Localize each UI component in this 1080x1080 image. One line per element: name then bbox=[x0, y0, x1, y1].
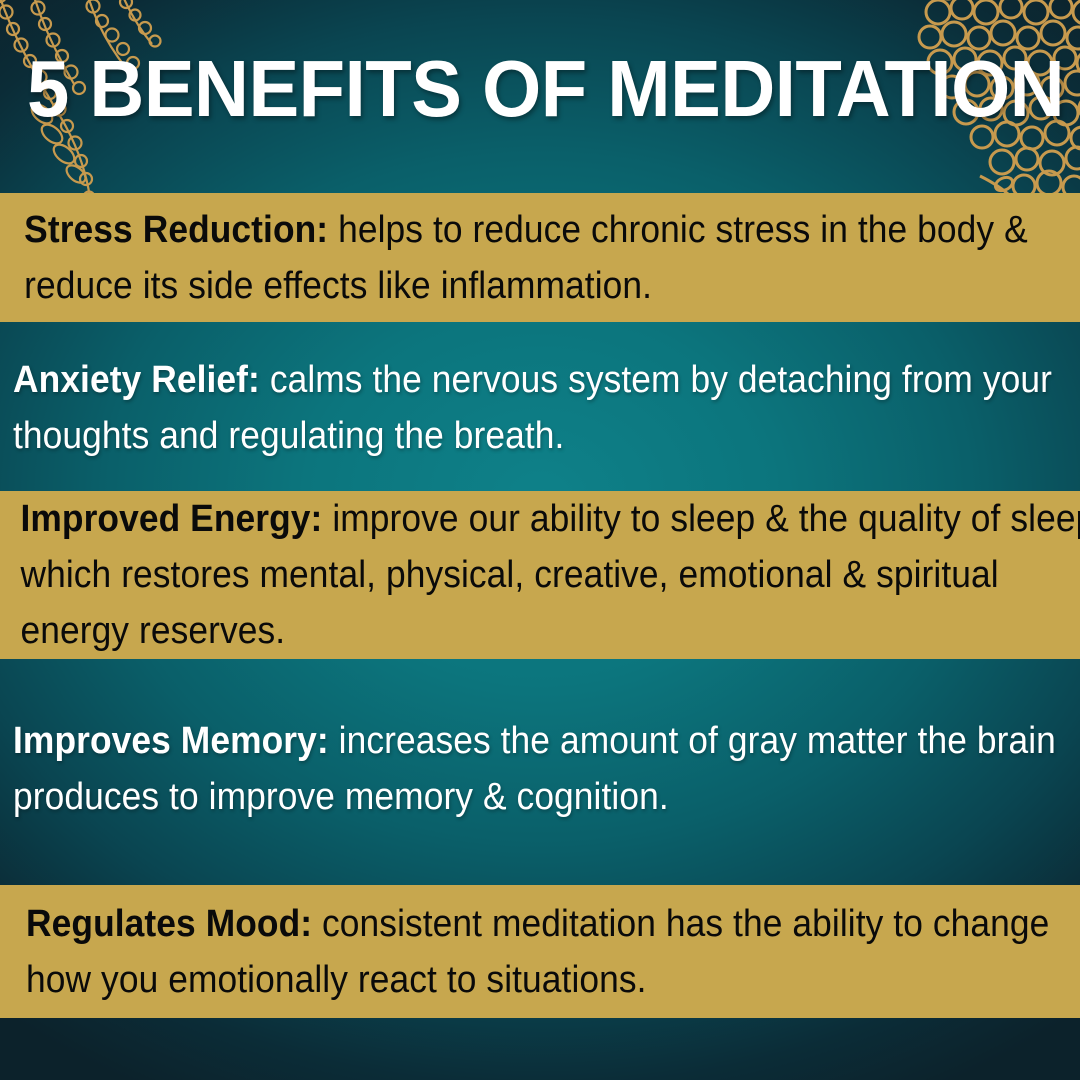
meditation-benefits-poster: 5 BENEFITS OF MEDITATION Stress Reductio… bbox=[0, 0, 1080, 1080]
benefit-text-2: Anxiety Relief: calms the nervous system… bbox=[0, 352, 1080, 464]
benefit-band-3: Improved Energy: improve our ability to … bbox=[0, 491, 1080, 659]
benefit-label-3: Improved Energy: bbox=[20, 498, 322, 540]
benefit-text-3: Improved Energy: improve our ability to … bbox=[0, 491, 1080, 659]
benefit-label-4: Improves Memory: bbox=[13, 720, 329, 762]
benefit-band-4: Improves Memory: increases the amount of… bbox=[0, 684, 1080, 854]
benefit-band-5: Regulates Mood: consistent meditation ha… bbox=[0, 885, 1080, 1018]
benefit-label-1: Stress Reduction: bbox=[24, 209, 328, 251]
benefit-text-5: Regulates Mood: consistent meditation ha… bbox=[0, 896, 1080, 1008]
benefit-label-5: Regulates Mood: bbox=[26, 903, 312, 945]
benefit-text-1: Stress Reduction: helps to reduce chroni… bbox=[0, 202, 1080, 314]
page-title: 5 BENEFITS OF MEDITATION bbox=[27, 47, 1053, 131]
benefit-label-2: Anxiety Relief: bbox=[13, 359, 260, 401]
benefit-band-2: Anxiety Relief: calms the nervous system… bbox=[0, 345, 1080, 471]
benefit-text-4: Improves Memory: increases the amount of… bbox=[0, 713, 1080, 825]
benefit-band-1: Stress Reduction: helps to reduce chroni… bbox=[0, 193, 1080, 322]
